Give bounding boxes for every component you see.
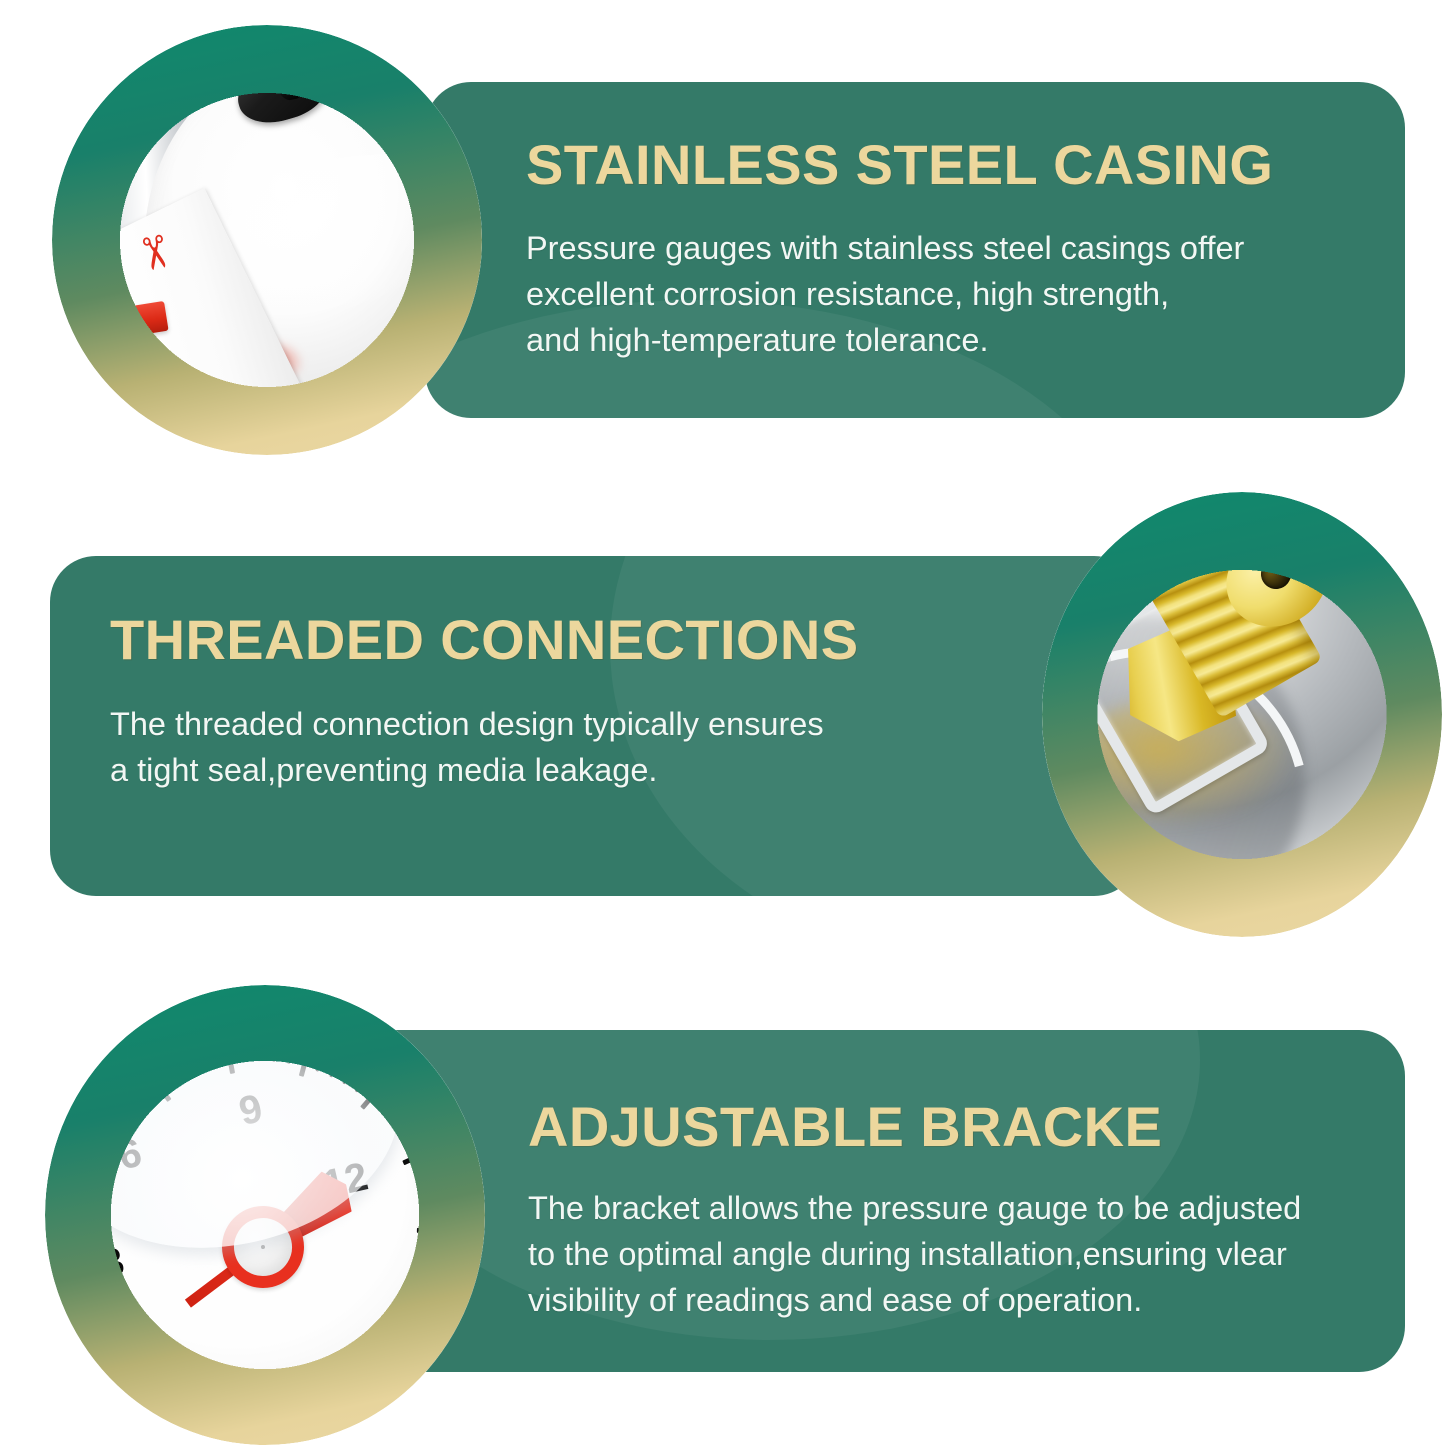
dial-tick <box>414 1287 431 1296</box>
feature-body-2: The threaded connection design typically… <box>110 701 858 793</box>
dial-tick <box>124 1338 139 1352</box>
dial-tick <box>161 1367 173 1383</box>
dial-tick <box>392 1325 407 1338</box>
feature-body-3: The bracket allows the pressure gauge to… <box>528 1185 1301 1323</box>
dial-tick <box>424 1197 441 1203</box>
adjustable-bracket-photo: 3 6 9 12 psi <box>45 985 485 1445</box>
feature-body-1: Pressure gauges with stainless steel cas… <box>526 225 1273 363</box>
dial-tick <box>372 1348 386 1362</box>
dial-tick <box>81 1260 98 1266</box>
gauge-dial-assembly: 3 6 9 12 psi <box>50 990 480 1440</box>
feature-title-1: STAINLESS STEEL CASING <box>526 137 1273 193</box>
instruction-label-line-1: AFTER INSTALLACUT TOP OF CA <box>118 344 237 450</box>
dial-tick <box>136 1340 158 1363</box>
dial-face: 3 6 9 12 psi <box>50 996 480 1440</box>
feature-text-block-1: STAINLESS STEEL CASING Pressure gauges w… <box>526 137 1273 363</box>
photo-clip: ✂ AFTER INSTALLACUT TOP OF CA <box>57 30 477 450</box>
dial-tick <box>175 1374 185 1390</box>
dial-tick <box>78 1246 95 1251</box>
dial-tick <box>425 1213 442 1217</box>
dial-tick <box>417 1228 444 1234</box>
feature-title-3: ADJUSTABLE BRACKE <box>528 1099 1301 1155</box>
dial-tick <box>400 1313 416 1324</box>
photo-clip: 3 6 9 12 psi <box>50 990 480 1440</box>
dial-tick <box>190 1380 199 1397</box>
feature-title-2: THREADED CONNECTIONS <box>110 612 858 668</box>
dial-tick <box>419 1273 436 1281</box>
dial-tick <box>382 1337 397 1351</box>
photo-clip <box>1047 497 1437 932</box>
dial-tick <box>205 1375 218 1402</box>
dial-tick <box>425 1244 442 1249</box>
infographic-canvas: STAINLESS STEEL CASING Pressure gauges w… <box>0 0 1445 1445</box>
dial-tick <box>422 1259 439 1265</box>
scissors-icon: ✂ <box>129 230 181 276</box>
dial-tick <box>148 1358 161 1373</box>
stainless-steel-casing-photo: ✂ AFTER INSTALLACUT TOP OF CA <box>52 25 482 455</box>
dial-tick <box>399 1295 425 1312</box>
feature-text-block-3: ADJUSTABLE BRACKE The bracket allows the… <box>528 1099 1301 1323</box>
threaded-connection-photo <box>1042 492 1442 937</box>
dial-tick <box>77 1231 94 1235</box>
feature-text-block-2: THREADED CONNECTIONS The threaded connec… <box>110 612 858 793</box>
